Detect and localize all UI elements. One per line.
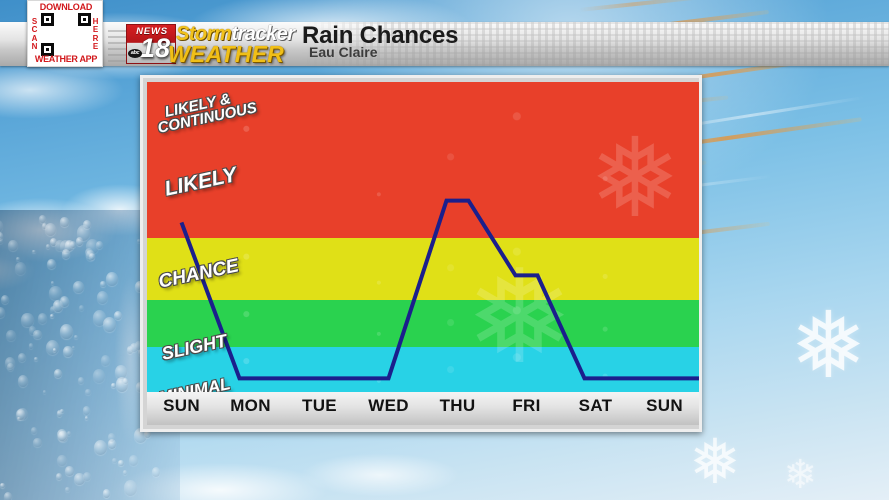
abc-network-icon: abc [128,49,142,58]
qr-eye-top-left-icon [41,13,54,26]
day-label-6: SAT [579,396,613,416]
snowflake-icon: ❅ [790,300,867,392]
weather-app-qr-widget[interactable]: DOWNLOAD SCAN HERE WEATHER APP [27,0,103,67]
qr-code-icon[interactable] [41,13,91,56]
page-subtitle: Eau Claire [309,44,377,60]
weather-graphic-stage: ❅ ❅ ❄ NEWS 18 abc Stormtracker WEATHER R… [0,0,889,500]
qr-weather-app-label: WEATHER APP [28,53,104,66]
rain-chance-chart: ❅ ❅ LIKELY &CONTINUOUSLIKELYCHANCESLIGHT… [140,75,702,432]
day-label-0: SUN [163,396,200,416]
rain-chance-line [182,201,700,379]
qr-eye-top-right-icon [78,13,91,26]
day-label-3: WED [368,396,409,416]
qr-download-label: DOWNLOAD [28,1,104,13]
chart-x-axis: SUNMONTUEWEDTHUFRISATSUN [147,392,699,425]
day-label-4: THU [440,396,476,416]
day-label-7: SUN [646,396,683,416]
snowflake-small-icon: ❅ [689,432,741,494]
qr-scan-label: SCAN [29,14,40,55]
weather-wordmark: WEATHER [168,41,284,68]
qr-here-label: HERE [90,14,101,55]
day-label-1: MON [230,396,271,416]
snowflake-tiny-icon: ❄ [783,455,817,495]
rain-chance-line-series [147,82,699,394]
day-label-2: TUE [302,396,337,416]
chart-plot-area: ❅ ❅ LIKELY &CONTINUOUSLIKELYCHANCESLIGHT… [147,82,699,394]
day-label-5: FRI [512,396,540,416]
